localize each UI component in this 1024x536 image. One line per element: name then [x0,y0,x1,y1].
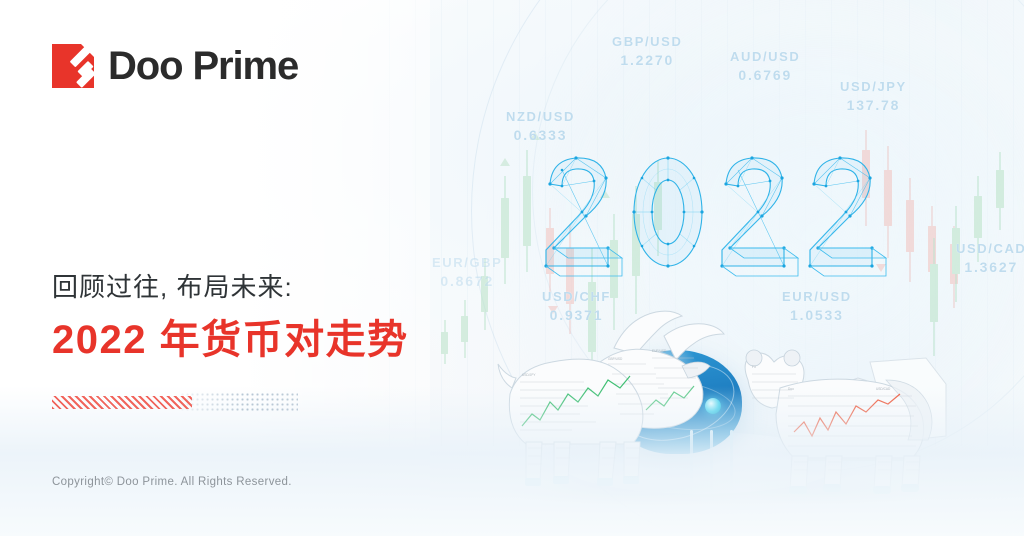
svg-text:GBP/USD: GBP/USD [608,357,623,361]
fx-value: 0.8672 [432,272,502,291]
brand-name: Doo Prime [108,46,298,86]
decorative-band [52,392,292,412]
fx-pair-label: USD/JPY [840,79,907,94]
fx-pair-label: USD/CHF [542,289,611,304]
fx-quote-usd-chf: USD/CHF 0.9371 [542,288,611,324]
fx-value: 1.3627 [956,258,1024,277]
fx-pair-label: EUR/GBP [432,255,502,270]
fx-quote-gbp-usd: GBP/USD 1.2270 [612,33,682,69]
svg-text:USD/JPY: USD/JPY [522,373,536,377]
brand-logo[interactable]: Doo Prime [52,44,298,88]
fx-pair-label: AUD/USD [730,49,800,64]
fx-pair-label: EUR/USD [782,289,852,304]
copyright-text: Copyright© Doo Prime. All Rights Reserve… [52,476,292,488]
headline-subtitle: 回顾过往, 布局未来: [52,272,409,303]
headline-block: 回顾过往, 布局未来: 2022 年货币对走势 [52,272,409,363]
svg-text:EUR/USD: EUR/USD [652,349,667,353]
fx-quote-usd-jpy: USD/JPY 137.78 [840,78,907,114]
fx-quote-aud-usd: AUD/USD 0.6769 [730,48,800,84]
fx-quote-eur-gbp: EUR/GBP 0.8672 [432,254,502,290]
fx-quote-usd-cad: USD/CAD 1.3627 [956,240,1024,276]
page-title: 2022 年货币对走势 [52,317,409,363]
doo-prime-banner: USD/JPY GBP/USD EUR/USD [0,0,1024,536]
fx-value: 0.6333 [506,126,575,145]
fx-quote-nzd-usd: NZD/USD 0.6333 [506,108,575,144]
decorative-hatch-bar [52,396,192,409]
decorative-dot-grid [180,392,298,412]
fx-pair-label: NZD/USD [506,109,575,124]
year-2022-wireframe-graphic [540,148,890,278]
fx-pair-label: GBP/USD [612,34,682,49]
fx-quote-eur-usd: EUR/USD 1.0533 [782,288,852,324]
fx-value: 0.6769 [730,66,800,85]
fx-value: 0.9371 [542,306,611,325]
doo-prime-flag-icon [52,44,94,88]
fx-pair-label: USD/CAD [956,241,1024,256]
fx-value: 1.0533 [782,306,852,325]
fx-value: 1.2270 [612,51,682,70]
fx-value: 137.78 [840,96,907,115]
